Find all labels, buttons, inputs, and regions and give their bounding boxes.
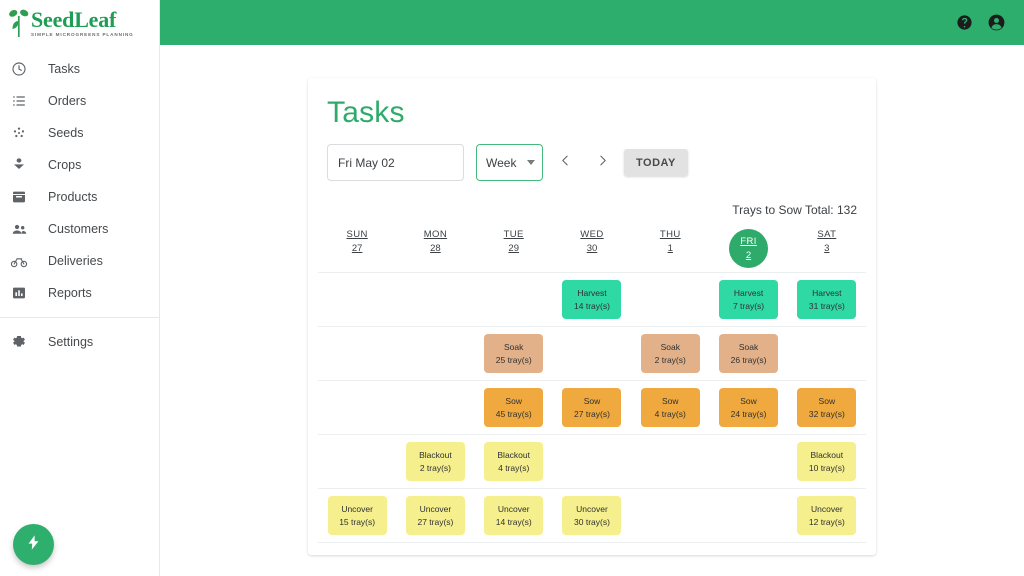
task-tray-count: 4 tray(s)	[643, 408, 698, 420]
task-tray-count: 12 tray(s)	[799, 516, 854, 528]
archive-box-icon	[10, 188, 28, 206]
calendar-row-sow: Sow45 tray(s)Sow27 tray(s)Sow4 tray(s)So…	[318, 380, 866, 434]
today-button[interactable]: TODAY	[624, 149, 688, 176]
task-card-blackout[interactable]: Blackout2 tray(s)	[406, 442, 465, 481]
calendar-cell	[396, 273, 474, 326]
task-tray-count: 14 tray(s)	[564, 300, 619, 312]
day-of-week: SAT	[817, 229, 836, 240]
task-card-uncover[interactable]: Uncover12 tray(s)	[797, 496, 856, 535]
calendar-cell: Sow32 tray(s)	[788, 381, 866, 434]
task-card-blackout[interactable]: Blackout10 tray(s)	[797, 442, 856, 481]
calendar-day-headers: SUN27MON28TUE29WED30THU1FRI2SAT3	[318, 229, 866, 272]
task-card-uncover[interactable]: Uncover15 tray(s)	[328, 496, 387, 535]
day-number: 27	[352, 243, 363, 254]
task-title: Soak	[486, 341, 541, 353]
task-title: Blackout	[799, 449, 854, 461]
task-title: Blackout	[408, 449, 463, 461]
calendar-cell	[318, 273, 396, 326]
task-card-sow[interactable]: Sow45 tray(s)	[484, 388, 543, 427]
sidebar-item-customers[interactable]: Customers	[0, 213, 159, 245]
sidebar-nav: Tasks Orders	[0, 45, 159, 358]
calendar-cell	[318, 327, 396, 380]
calendar-cell	[475, 273, 553, 326]
calendar-row-uncover: Uncover15 tray(s)Uncover27 tray(s)Uncove…	[318, 488, 866, 543]
task-tray-count: 26 tray(s)	[721, 354, 776, 366]
calendar-cell: Sow4 tray(s)	[631, 381, 709, 434]
people-icon	[10, 220, 28, 238]
day-number: 2	[746, 250, 751, 261]
calendar-row-blackout: Blackout2 tray(s)Blackout4 tray(s)Blacko…	[318, 434, 866, 488]
sprout-icon	[8, 8, 30, 38]
calendar-cell	[631, 435, 709, 488]
sidebar-item-label: Reports	[48, 286, 92, 300]
task-title: Sow	[486, 395, 541, 407]
calendar-cell: Soak25 tray(s)	[475, 327, 553, 380]
chevron-right-icon	[596, 154, 609, 172]
calendar-cell	[631, 273, 709, 326]
task-title: Blackout	[486, 449, 541, 461]
sidebar-item-deliveries[interactable]: Deliveries	[0, 245, 159, 277]
calendar-cell	[553, 327, 631, 380]
task-card-harvest[interactable]: Harvest14 tray(s)	[562, 280, 621, 319]
calendar-cell: Uncover30 tray(s)	[553, 489, 631, 542]
view-select[interactable]: Week	[476, 144, 543, 181]
calendar-cell	[318, 381, 396, 434]
trays-total-label: Trays to Sow Total: 132	[318, 203, 866, 217]
task-tray-count: 32 tray(s)	[799, 408, 854, 420]
task-card-soak[interactable]: Soak2 tray(s)	[641, 334, 700, 373]
today-highlight: FRI2	[729, 229, 768, 268]
calendar-cell: Soak2 tray(s)	[631, 327, 709, 380]
calendar-row-soak: Soak25 tray(s)Soak2 tray(s)Soak26 tray(s…	[318, 326, 866, 380]
task-card-sow[interactable]: Sow27 tray(s)	[562, 388, 621, 427]
task-tray-count: 24 tray(s)	[721, 408, 776, 420]
task-card-blackout[interactable]: Blackout4 tray(s)	[484, 442, 543, 481]
day-number: 3	[824, 243, 829, 254]
calendar-cell: Harvest31 tray(s)	[788, 273, 866, 326]
day-header-thu[interactable]: THU1	[631, 229, 709, 272]
calendar-cell: Sow45 tray(s)	[475, 381, 553, 434]
task-card-harvest[interactable]: Harvest7 tray(s)	[719, 280, 778, 319]
help-circle-icon[interactable]	[956, 14, 973, 31]
task-tray-count: 45 tray(s)	[486, 408, 541, 420]
calendar-cell: Sow24 tray(s)	[709, 381, 787, 434]
calendar-cell	[788, 327, 866, 380]
sprout-circle-icon	[10, 156, 28, 174]
date-input[interactable]: Fri May 02	[327, 144, 464, 181]
day-header-fri[interactable]: FRI2	[709, 229, 787, 272]
prev-week-button[interactable]	[550, 148, 580, 178]
bicycle-icon	[10, 252, 28, 270]
calendar-cell	[709, 489, 787, 542]
task-title: Sow	[799, 395, 854, 407]
gear-icon	[10, 333, 28, 351]
seeds-icon	[10, 124, 28, 142]
task-tray-count: 2 tray(s)	[643, 354, 698, 366]
content-area: Tasks Fri May 02 Week	[160, 45, 1024, 576]
task-title: Sow	[643, 395, 698, 407]
chevron-down-icon	[527, 160, 535, 165]
sidebar-item-label: Settings	[48, 335, 93, 349]
task-title: Uncover	[799, 503, 854, 515]
calendar-cell	[709, 435, 787, 488]
brand-logo[interactable]: SeedLeaf SIMPLE MICROGREENS PLANNING	[0, 0, 159, 45]
top-header-bar	[160, 0, 1024, 45]
task-card-sow[interactable]: Sow32 tray(s)	[797, 388, 856, 427]
calendar-cell	[396, 327, 474, 380]
task-tray-count: 15 tray(s)	[330, 516, 385, 528]
day-of-week: SUN	[347, 229, 368, 240]
brand-name: SeedLeaf	[31, 9, 134, 31]
task-card-soak[interactable]: Soak26 tray(s)	[719, 334, 778, 373]
day-header-wed[interactable]: WED30	[553, 229, 631, 272]
day-number: 1	[668, 243, 673, 254]
sidebar-item-label: Seeds	[48, 126, 83, 140]
day-header-tue[interactable]: TUE29	[475, 229, 553, 272]
chevron-left-icon	[559, 154, 572, 172]
bar-chart-icon	[10, 284, 28, 302]
sidebar-item-settings[interactable]: Settings	[0, 326, 159, 358]
list-icon	[10, 92, 28, 110]
calendar-controls: Fri May 02 Week	[318, 144, 866, 181]
calendar-body: Harvest14 tray(s)Harvest7 tray(s)Harvest…	[318, 272, 866, 543]
task-card-uncover[interactable]: Uncover14 tray(s)	[484, 496, 543, 535]
task-title: Harvest	[721, 287, 776, 299]
sidebar: SeedLeaf SIMPLE MICROGREENS PLANNING Tas…	[0, 0, 160, 576]
account-circle-icon[interactable]	[987, 13, 1006, 32]
task-tray-count: 25 tray(s)	[486, 354, 541, 366]
clock-icon	[10, 60, 28, 78]
calendar-cell	[631, 489, 709, 542]
task-title: Soak	[721, 341, 776, 353]
calendar-cell: Uncover15 tray(s)	[318, 489, 396, 542]
day-number: 29	[508, 243, 519, 254]
sidebar-item-crops[interactable]: Crops	[0, 149, 159, 181]
calendar-cell: Blackout10 tray(s)	[788, 435, 866, 488]
task-tray-count: 7 tray(s)	[721, 300, 776, 312]
day-of-week: MON	[424, 229, 447, 240]
day-of-week: FRI	[740, 236, 757, 247]
task-tray-count: 4 tray(s)	[486, 462, 541, 474]
task-card-sow[interactable]: Sow4 tray(s)	[641, 388, 700, 427]
date-input-value: Fri May 02	[338, 156, 395, 170]
calendar-cell: Uncover12 tray(s)	[788, 489, 866, 542]
calendar-cell: Soak26 tray(s)	[709, 327, 787, 380]
task-title: Uncover	[564, 503, 619, 515]
calendar-cell	[396, 381, 474, 434]
next-week-button[interactable]	[587, 148, 617, 178]
task-title: Sow	[564, 395, 619, 407]
task-card-sow[interactable]: Sow24 tray(s)	[719, 388, 778, 427]
day-of-week: TUE	[504, 229, 524, 240]
day-header-mon[interactable]: MON28	[396, 229, 474, 272]
sidebar-item-label: Crops	[48, 158, 81, 172]
task-tray-count: 31 tray(s)	[799, 300, 854, 312]
sidebar-item-seeds[interactable]: Seeds	[0, 117, 159, 149]
view-select-value: Week	[486, 156, 516, 170]
task-title: Uncover	[486, 503, 541, 515]
calendar-cell: Harvest7 tray(s)	[709, 273, 787, 326]
app-root: SeedLeaf SIMPLE MICROGREENS PLANNING Tas…	[0, 0, 1024, 576]
task-tray-count: 27 tray(s)	[564, 408, 619, 420]
calendar-cell: Blackout2 tray(s)	[396, 435, 474, 488]
calendar-row-harvest: Harvest14 tray(s)Harvest7 tray(s)Harvest…	[318, 272, 866, 326]
calendar-cell: Harvest14 tray(s)	[553, 273, 631, 326]
task-tray-count: 2 tray(s)	[408, 462, 463, 474]
day-number: 28	[430, 243, 441, 254]
sidebar-item-tasks[interactable]: Tasks	[0, 53, 159, 85]
calendar-cell: Sow27 tray(s)	[553, 381, 631, 434]
task-title: Soak	[643, 341, 698, 353]
sidebar-item-orders[interactable]: Orders	[0, 85, 159, 117]
tasks-card: Tasks Fri May 02 Week	[308, 78, 876, 555]
task-title: Uncover	[408, 503, 463, 515]
day-of-week: THU	[660, 229, 681, 240]
task-tray-count: 14 tray(s)	[486, 516, 541, 528]
sidebar-item-label: Products	[48, 190, 97, 204]
task-title: Uncover	[330, 503, 385, 515]
sidebar-item-label: Orders	[48, 94, 86, 108]
task-tray-count: 27 tray(s)	[408, 516, 463, 528]
day-of-week: WED	[580, 229, 603, 240]
sidebar-item-reports[interactable]: Reports	[0, 277, 159, 309]
task-card-soak[interactable]: Soak25 tray(s)	[484, 334, 543, 373]
sidebar-divider	[0, 317, 159, 318]
lightning-bolt-icon	[25, 534, 42, 556]
task-tray-count: 10 tray(s)	[799, 462, 854, 474]
calendar-cell: Uncover27 tray(s)	[396, 489, 474, 542]
brand-tagline: SIMPLE MICROGREENS PLANNING	[31, 33, 134, 38]
task-card-uncover[interactable]: Uncover27 tray(s)	[406, 496, 465, 535]
sidebar-item-label: Deliveries	[48, 254, 103, 268]
task-card-uncover[interactable]: Uncover30 tray(s)	[562, 496, 621, 535]
quick-action-fab[interactable]	[13, 524, 54, 565]
day-header-sat[interactable]: SAT3	[788, 229, 866, 272]
sidebar-item-label: Customers	[48, 222, 108, 236]
week-calendar: SUN27MON28TUE29WED30THU1FRI2SAT3 Harvest…	[318, 229, 866, 543]
task-title: Sow	[721, 395, 776, 407]
sidebar-item-label: Tasks	[48, 62, 80, 76]
calendar-cell	[318, 435, 396, 488]
task-tray-count: 30 tray(s)	[564, 516, 619, 528]
calendar-cell: Blackout4 tray(s)	[475, 435, 553, 488]
sidebar-item-products[interactable]: Products	[0, 181, 159, 213]
calendar-cell: Uncover14 tray(s)	[475, 489, 553, 542]
page-title: Tasks	[318, 96, 866, 130]
day-header-sun[interactable]: SUN27	[318, 229, 396, 272]
task-card-harvest[interactable]: Harvest31 tray(s)	[797, 280, 856, 319]
calendar-cell	[553, 435, 631, 488]
task-title: Harvest	[799, 287, 854, 299]
task-title: Harvest	[564, 287, 619, 299]
main-area: Tasks Fri May 02 Week	[160, 0, 1024, 576]
day-number: 30	[587, 243, 598, 254]
